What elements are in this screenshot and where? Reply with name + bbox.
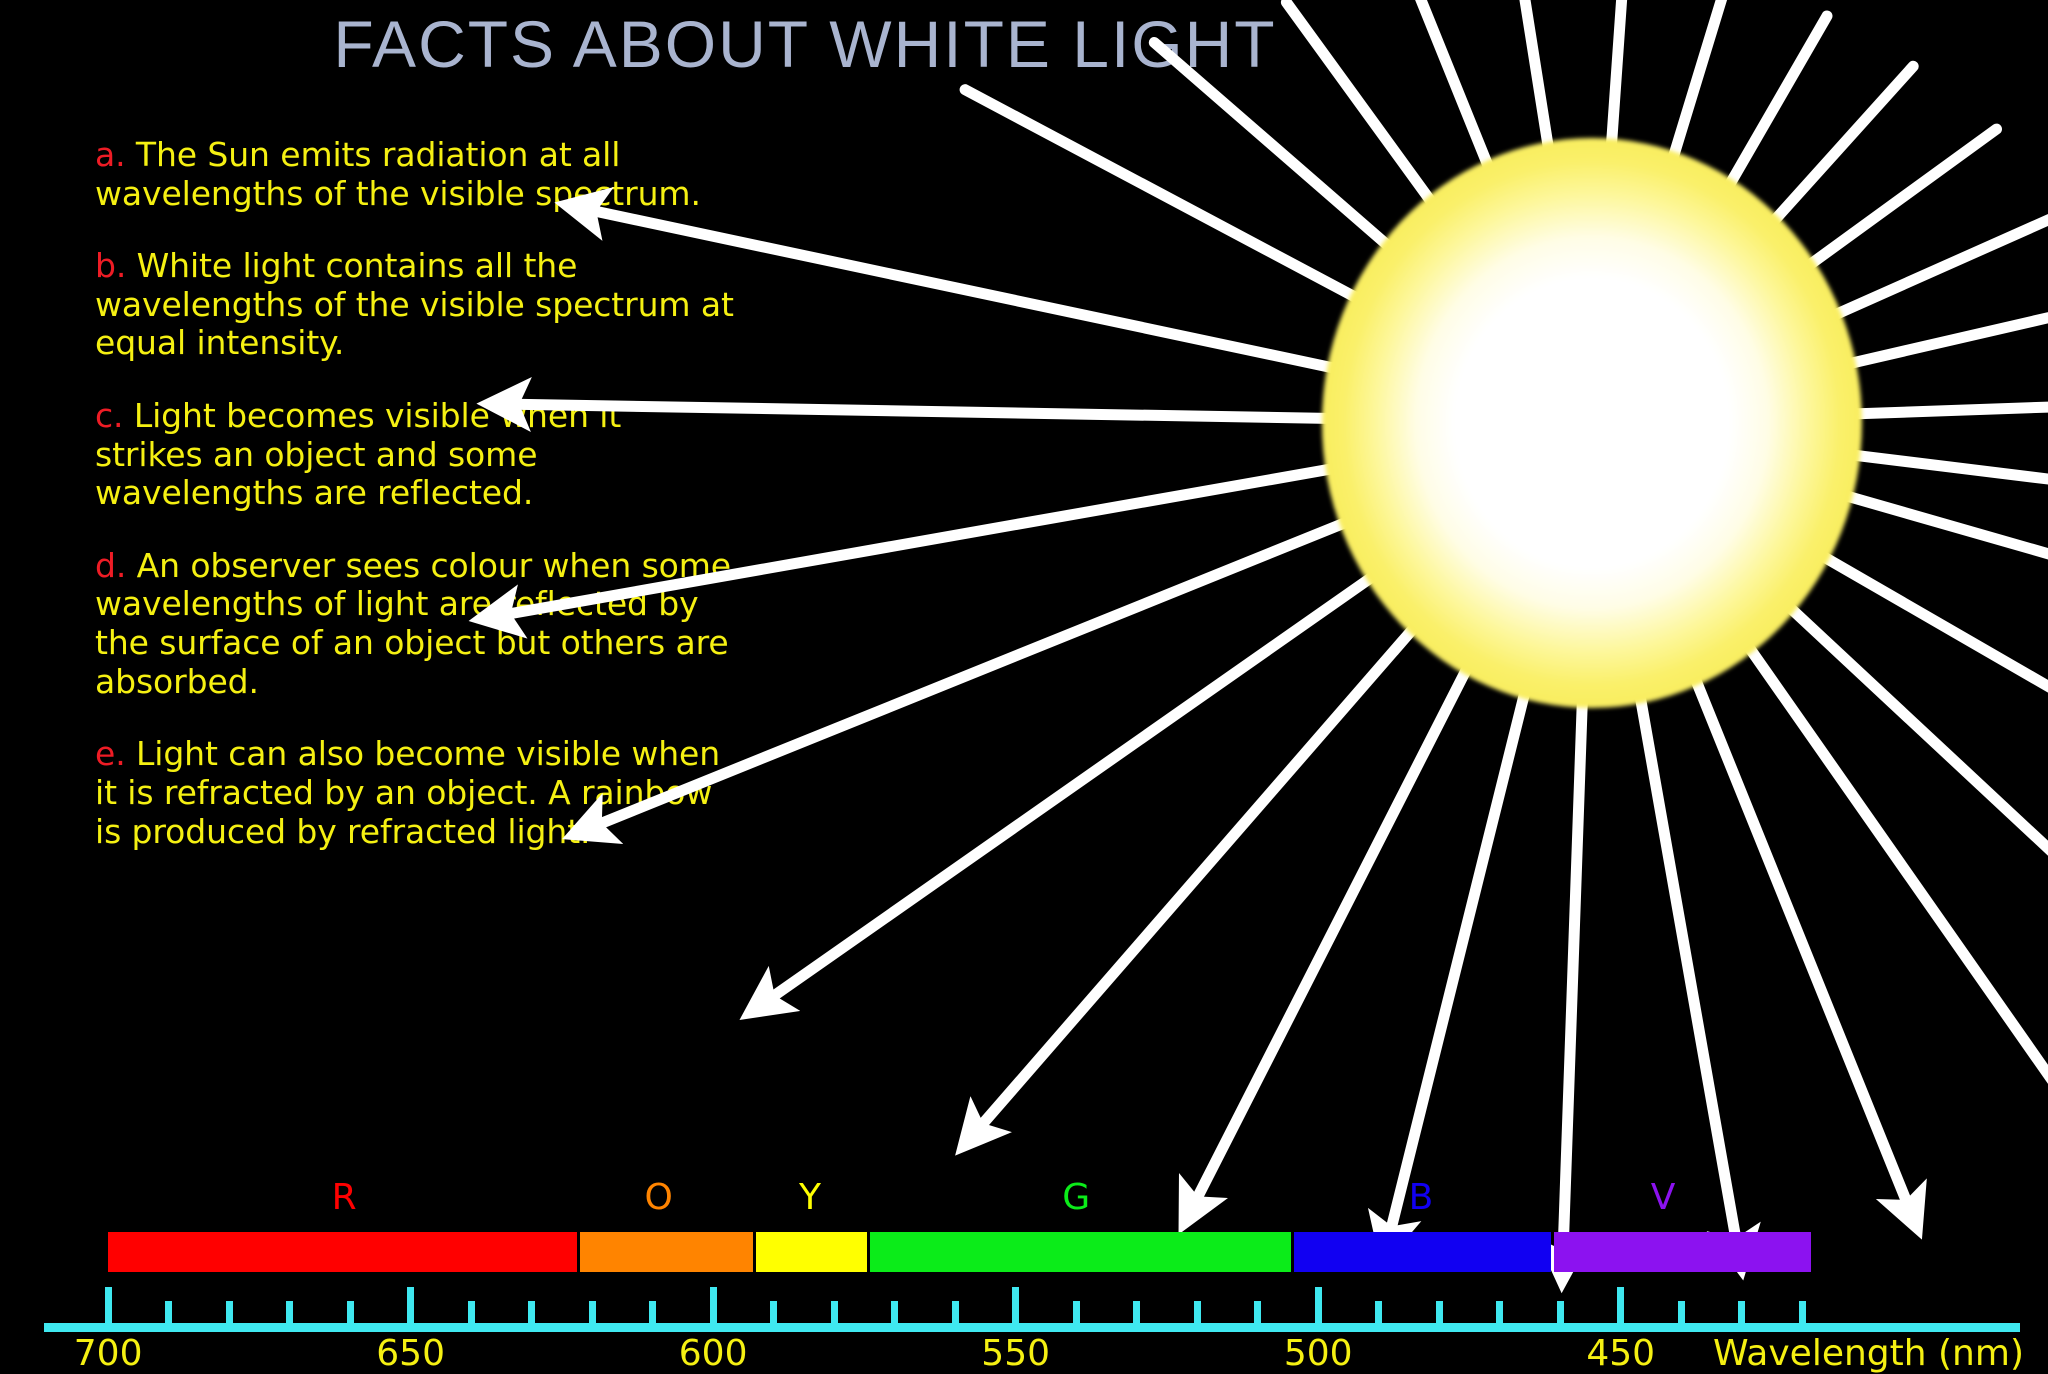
light-ray bbox=[1722, 498, 2048, 778]
spectrum-band-green bbox=[870, 1232, 1291, 1272]
fact-label-d: d. bbox=[95, 546, 126, 585]
axis-title: Wavelength (nm) bbox=[1713, 1336, 2024, 1372]
axis-tick-minor bbox=[286, 1301, 293, 1323]
fact-text-e: Light can also become visible when it is… bbox=[95, 734, 720, 850]
light-ray-arrow bbox=[1618, 571, 1738, 1250]
spectrum-letter-r: R bbox=[332, 1180, 357, 1216]
light-ray-arrow bbox=[1389, 569, 1556, 1239]
light-ray-arrow bbox=[1193, 557, 1524, 1207]
fact-label-e: e. bbox=[95, 734, 126, 773]
axis-tick-label-650: 650 bbox=[376, 1336, 445, 1372]
spectrum-band-yellow bbox=[756, 1232, 868, 1272]
axis-tick-major bbox=[407, 1287, 414, 1323]
spectrum-letter-o: O bbox=[645, 1180, 673, 1216]
light-ray bbox=[1702, 525, 2048, 1002]
axis-tick-minor bbox=[1073, 1301, 1080, 1323]
light-ray bbox=[1738, 295, 2048, 390]
fact-label-a: a. bbox=[95, 135, 126, 174]
axis-tick-label-450: 450 bbox=[1586, 1336, 1655, 1372]
light-ray-arrow bbox=[1563, 573, 1587, 1263]
axis-tick-minor bbox=[165, 1301, 172, 1323]
axis-tick-major bbox=[1315, 1287, 1322, 1323]
spectrum-band-blue bbox=[1294, 1232, 1551, 1272]
axis-ticks bbox=[0, 1287, 2048, 1323]
light-ray bbox=[1692, 66, 1913, 311]
axis-tick-minor bbox=[770, 1301, 777, 1323]
infographic-canvas: FACTS ABOUT WHITE LIGHT a. The Sun emits… bbox=[0, 0, 2048, 1371]
light-ray-arrow bbox=[1678, 546, 2048, 1136]
light-ray bbox=[1741, 441, 2048, 493]
axis-tick-minor bbox=[589, 1301, 596, 1323]
light-ray-arrow bbox=[1648, 562, 1910, 1211]
spectrum-letter-b: B bbox=[1409, 1180, 1434, 1216]
light-ray bbox=[1154, 43, 1479, 325]
axis-tick-minor bbox=[1194, 1301, 1201, 1323]
axis-tick-minor bbox=[1436, 1301, 1443, 1323]
axis-tick-minor bbox=[1678, 1301, 1685, 1323]
axis-tick-minor bbox=[1254, 1301, 1261, 1323]
light-ray-arrow bbox=[975, 536, 1493, 1132]
fact-text-b: White light contains all the wavelengths… bbox=[95, 246, 734, 362]
axis-tick-minor bbox=[952, 1301, 959, 1323]
axis-tick-minor bbox=[226, 1301, 233, 1323]
sun-disc bbox=[1322, 138, 1862, 708]
axis-tick-minor bbox=[468, 1301, 475, 1323]
page-title: FACTS ABOUT WHITE LIGHT bbox=[0, 6, 1610, 82]
light-ray bbox=[1636, 0, 1730, 280]
fact-text-d: An observer sees colour when some wavele… bbox=[95, 546, 731, 701]
axis-tick-minor bbox=[1496, 1301, 1503, 1323]
spectrum-letter-g: G bbox=[1062, 1180, 1090, 1216]
axis-tick-minor bbox=[1133, 1301, 1140, 1323]
light-ray bbox=[1713, 129, 1996, 335]
axis-tick-minor bbox=[1557, 1301, 1564, 1323]
axis-tick-major bbox=[710, 1287, 717, 1323]
wavelength-axis-line bbox=[44, 1323, 2020, 1332]
fact-text-c: Light becomes visible when it strikes an… bbox=[95, 396, 621, 512]
spectrum-band-red bbox=[108, 1232, 577, 1272]
axis-tick-major bbox=[1012, 1287, 1019, 1323]
axis-tick-minor bbox=[891, 1301, 898, 1323]
fact-label-c: c. bbox=[95, 396, 123, 435]
fact-text-a: The Sun emits radiation at all wavelengt… bbox=[95, 135, 701, 213]
fact-label-b: b. bbox=[95, 246, 126, 285]
spectrum-letter-y: Y bbox=[799, 1180, 821, 1216]
light-ray bbox=[1729, 203, 2048, 362]
axis-tick-minor bbox=[1375, 1301, 1382, 1323]
fact-item-b: b. White light contains all the waveleng… bbox=[95, 247, 735, 363]
axis-tick-label-550: 550 bbox=[981, 1336, 1050, 1372]
fact-item-d: d. An observer sees colour when some wav… bbox=[95, 547, 735, 701]
light-ray bbox=[1742, 403, 2048, 418]
axis-tick-minor bbox=[528, 1301, 535, 1323]
axis-tick-minor bbox=[831, 1301, 838, 1323]
fact-item-e: e. Light can also become visible when it… bbox=[95, 735, 735, 851]
axis-tick-label-700: 700 bbox=[74, 1336, 143, 1372]
fact-item-c: c. Light becomes visible when it strikes… bbox=[95, 397, 735, 513]
light-ray bbox=[1736, 464, 2048, 588]
light-ray bbox=[965, 90, 1460, 353]
spectrum-band-violet bbox=[1554, 1232, 1811, 1272]
axis-tick-label-600: 600 bbox=[679, 1336, 748, 1372]
fact-item-a: a. The Sun emits radiation at all wavele… bbox=[95, 136, 735, 213]
axis-tick-minor bbox=[1738, 1301, 1745, 1323]
spectrum-band-orange bbox=[580, 1232, 752, 1272]
spectrum-letter-v: V bbox=[1651, 1180, 1676, 1216]
axis-tick-minor bbox=[1799, 1301, 1806, 1323]
light-ray-arrow bbox=[765, 509, 1469, 1002]
axis-tick-major bbox=[105, 1287, 112, 1323]
facts-list: a. The Sun emits radiation at all wavele… bbox=[95, 136, 735, 885]
axis-tick-minor bbox=[347, 1301, 354, 1323]
axis-tick-label-500: 500 bbox=[1284, 1336, 1353, 1372]
axis-tick-minor bbox=[649, 1301, 656, 1323]
axis-tick-major bbox=[1617, 1287, 1624, 1323]
light-ray bbox=[1667, 16, 1827, 293]
